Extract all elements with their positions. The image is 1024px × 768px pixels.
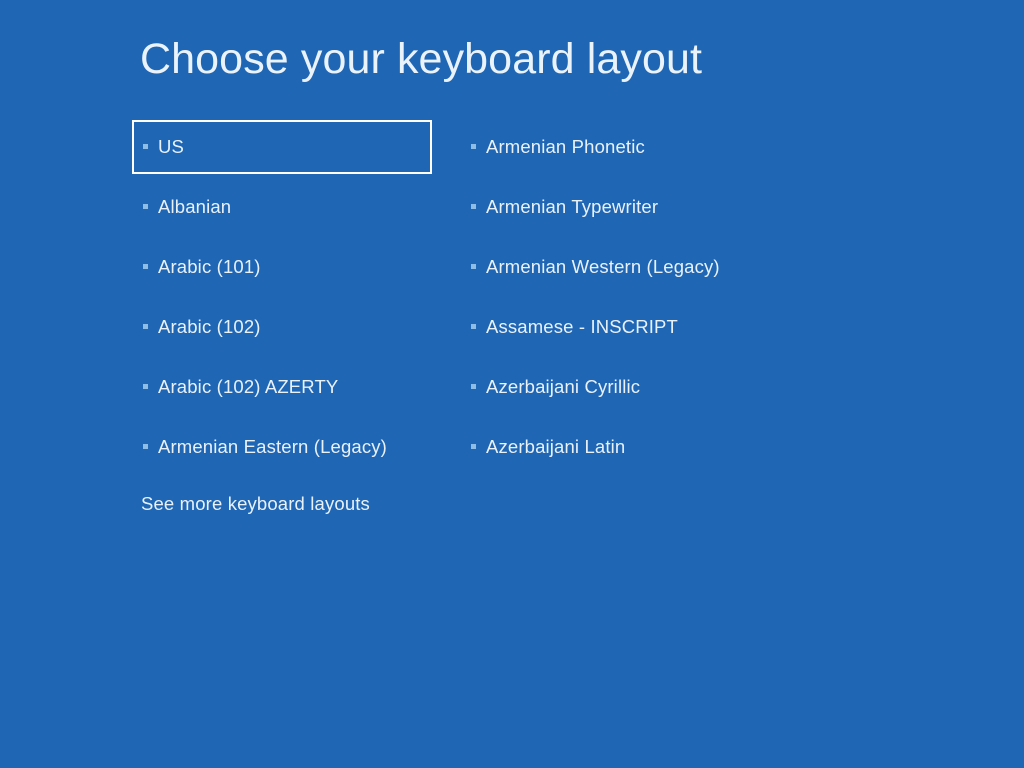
keyboard-layout-item[interactable]: Azerbaijani Latin (460, 420, 790, 474)
keyboard-layout-item[interactable]: Albanian (132, 180, 432, 234)
bullet-icon (471, 444, 476, 449)
page-title: Choose your keyboard layout (140, 36, 702, 83)
keyboard-layout-item[interactable]: Arabic (101) (132, 240, 432, 294)
bullet-icon (143, 384, 148, 389)
bullet-icon (143, 444, 148, 449)
keyboard-layout-item-label: Armenian Typewriter (486, 196, 658, 218)
bullet-icon (471, 384, 476, 389)
keyboard-layout-item[interactable]: Armenian Phonetic (460, 120, 790, 174)
keyboard-layout-item-label: US (158, 136, 184, 158)
bullet-icon (143, 204, 148, 209)
keyboard-layout-item-label: Armenian Phonetic (486, 136, 645, 158)
keyboard-layout-item-label: Armenian Western (Legacy) (486, 256, 720, 278)
keyboard-layout-item[interactable]: Arabic (102) AZERTY (132, 360, 432, 414)
keyboard-layout-screen: Choose your keyboard layout USAlbanianAr… (0, 0, 1024, 768)
keyboard-layout-item[interactable]: Arabic (102) (132, 300, 432, 354)
keyboard-layout-item-label: Arabic (101) (158, 256, 261, 278)
keyboard-layout-item-label: Azerbaijani Latin (486, 436, 625, 458)
keyboard-layout-item-label: Albanian (158, 196, 231, 218)
keyboard-layout-item-label: Arabic (102) (158, 316, 261, 338)
keyboard-layout-item[interactable]: Armenian Eastern (Legacy) (132, 420, 432, 474)
keyboard-layout-item[interactable]: Armenian Western (Legacy) (460, 240, 790, 294)
keyboard-layout-item[interactable]: Armenian Typewriter (460, 180, 790, 234)
keyboard-layout-item-label: Arabic (102) AZERTY (158, 376, 338, 398)
bullet-icon (471, 264, 476, 269)
bullet-icon (143, 324, 148, 329)
bullet-icon (471, 144, 476, 149)
keyboard-layout-item[interactable]: US (132, 120, 432, 174)
see-more-keyboard-layouts-link[interactable]: See more keyboard layouts (141, 493, 370, 515)
keyboard-layout-item-label: Armenian Eastern (Legacy) (158, 436, 387, 458)
keyboard-layout-item[interactable]: Azerbaijani Cyrillic (460, 360, 790, 414)
keyboard-layout-item-label: Assamese - INSCRIPT (486, 316, 678, 338)
bullet-icon (471, 204, 476, 209)
keyboard-layout-item-label: Azerbaijani Cyrillic (486, 376, 640, 398)
keyboard-layout-column-left: USAlbanianArabic (101)Arabic (102)Arabic… (132, 120, 432, 480)
keyboard-layout-item[interactable]: Assamese - INSCRIPT (460, 300, 790, 354)
bullet-icon (471, 324, 476, 329)
keyboard-layout-column-right: Armenian PhoneticArmenian TypewriterArme… (460, 120, 790, 480)
bullet-icon (143, 144, 148, 149)
bullet-icon (143, 264, 148, 269)
